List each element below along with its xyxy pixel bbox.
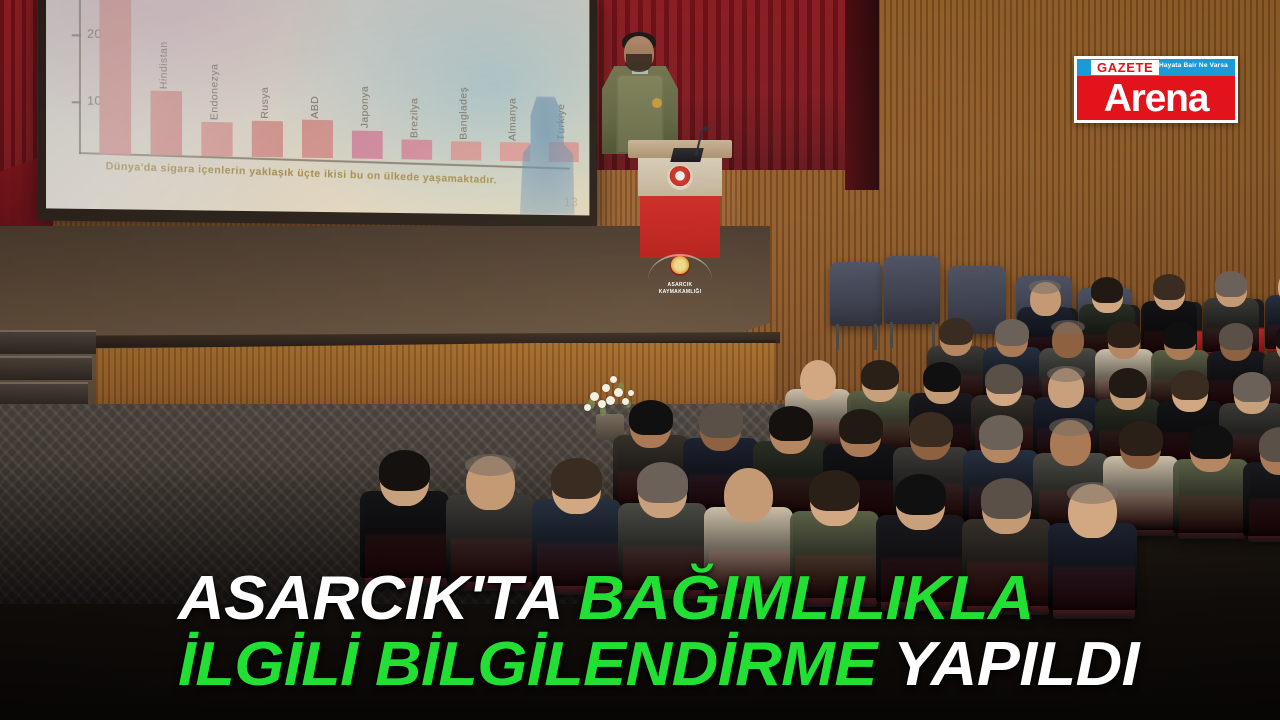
audience-person-hair <box>723 466 774 507</box>
audience-person-hair <box>699 403 743 438</box>
chart-bar <box>352 130 383 159</box>
audience-person-hair <box>923 362 961 392</box>
chart-bar-label: Almanya <box>507 97 519 140</box>
speaker-beard <box>626 54 652 72</box>
chart-bar-label: Bangladeş <box>458 87 470 140</box>
chart-bar-label: ABD <box>309 95 321 118</box>
logo-brand-text: Arena <box>1104 79 1209 118</box>
flower-bloom <box>598 400 606 408</box>
audience-person-hair <box>895 474 946 515</box>
audience-person-hair <box>839 409 883 444</box>
audience-person-hair <box>985 364 1023 394</box>
headline-segment: BAĞIMLILIKLA <box>561 564 1034 633</box>
red-curtain-edge <box>845 0 879 190</box>
laptop-icon <box>670 148 703 162</box>
logo-top-bar: GAZETE Hayata Bair Ne Varsa <box>1077 59 1235 76</box>
headline-segment: YAPILDI <box>877 630 1139 699</box>
news-photo-card: 20 10 HindistanEndonezyaRusyaABDJaponyaB… <box>0 0 1280 720</box>
audience-person-hair <box>1029 280 1061 294</box>
empty-chair <box>884 256 940 324</box>
microphone-head-icon <box>702 126 709 131</box>
audience-person-hair <box>1067 482 1118 504</box>
flower-bloom <box>590 392 599 401</box>
empty-chair <box>830 262 882 326</box>
audience-person-hair <box>769 406 813 441</box>
audience-person-hair <box>809 470 860 511</box>
logo-tagline: Hayata Bair Ne Varsa <box>1159 62 1228 69</box>
podium-label: ASARCIK KAYMAKAMLIĞI <box>640 282 720 296</box>
audience-person-hair <box>1215 271 1247 297</box>
audience-person-hair <box>1233 372 1271 402</box>
audience-person-hair <box>979 415 1023 450</box>
chart-bars: HindistanEndonezyaRusyaABDJaponyaBrezily… <box>91 0 589 164</box>
chart-bar <box>302 120 333 158</box>
chart-bar <box>451 141 481 160</box>
chart-bar-label: Endonezya <box>208 63 220 120</box>
audience-person-hair <box>1047 366 1085 382</box>
flower-bloom <box>602 384 610 392</box>
podium: ASARCIK KAYMAKAMLIĞI <box>632 140 728 258</box>
headline-line-1: ASARCIK'TA BAĞIMLILIKLA <box>178 566 1228 632</box>
chart-bar <box>252 121 283 158</box>
chart-bar <box>99 0 131 155</box>
chair-leg <box>836 324 839 350</box>
flower-bloom <box>614 388 623 397</box>
stage-step <box>0 330 96 354</box>
headline-line-2: İLGİLİ BİLGİLENDİRME YAPILDI <box>178 632 1228 698</box>
projection-screen-frame: 20 10 HindistanEndonezyaRusyaABDJaponyaB… <box>38 0 597 227</box>
podium-gold-emblem-icon <box>670 256 690 276</box>
chair-leg <box>932 322 935 348</box>
audience-person-hair <box>629 400 673 435</box>
audience-person-hair <box>981 478 1032 519</box>
audience-person-hair <box>1109 368 1147 398</box>
flower-bloom <box>622 398 629 405</box>
publisher-logo[interactable]: GAZETE Hayata Bair Ne Varsa Arena <box>1074 56 1238 123</box>
chair-leg <box>890 322 893 348</box>
logo-main-block: Arena <box>1077 76 1235 120</box>
chart-bar <box>201 122 232 157</box>
podium-seal-emblem-icon <box>667 164 693 190</box>
flower-bloom <box>606 396 615 405</box>
chart-ytick-20 <box>72 34 81 36</box>
audience-person-hair <box>909 412 953 447</box>
stage-step <box>0 382 88 406</box>
chart-bar <box>402 139 433 159</box>
chart-bar-label: Hindistan <box>158 41 170 89</box>
chart-bar-label: Rusya <box>259 87 271 119</box>
flower-bloom <box>584 404 591 411</box>
flower-bloom <box>628 390 634 396</box>
audience-person-hair <box>1153 274 1185 300</box>
audience-person-hair <box>1189 424 1233 459</box>
audience-person-hair <box>1219 323 1253 350</box>
projection-screen: 20 10 HindistanEndonezyaRusyaABDJaponyaB… <box>46 0 589 215</box>
headline: ASARCIK'TA BAĞIMLILIKLA İLGİLİ BİLGİLEND… <box>178 566 1188 698</box>
chart-bar-label: Japonya <box>359 86 371 129</box>
audience-person-hair <box>465 454 516 476</box>
audience-person-hair <box>1091 277 1123 303</box>
audience-person-hair <box>379 450 430 491</box>
speaker-person <box>600 36 680 154</box>
chart-ytick-10 <box>72 101 81 103</box>
chart-bar-label: Brezilya <box>408 97 420 138</box>
podium-label-line1: ASARCIK <box>668 282 693 288</box>
audience-person-hair <box>1119 421 1163 456</box>
chair-leg <box>874 324 877 350</box>
logo-gazete-text: GAZETE <box>1091 60 1159 75</box>
chart-bar <box>151 91 183 156</box>
stage-step <box>0 356 92 380</box>
podium-front-plate: ASARCIK KAYMAKAMLIĞI <box>640 196 720 258</box>
audience-person-hair <box>799 358 837 388</box>
audience-person-hair <box>1171 370 1209 400</box>
headline-segment: İLGİLİ BİLGİLENDİRME <box>178 630 877 699</box>
audience-person-hair <box>861 360 899 390</box>
audience-person-hair <box>1107 321 1141 348</box>
audience-person-hair <box>637 462 688 503</box>
audience-person-hair <box>551 458 602 499</box>
audience-person-hair <box>939 318 973 345</box>
headline-segment: ASARCIK'TA <box>178 564 561 633</box>
podium-label-line2: KAYMAKAMLIĞI <box>659 289 702 295</box>
speaker-vest-logo <box>652 98 662 108</box>
audience-person-hair <box>1163 322 1197 349</box>
audience-person-hair <box>995 319 1029 346</box>
presentation-slide: 20 10 HindistanEndonezyaRusyaABDJaponyaB… <box>46 0 589 215</box>
flower-bloom <box>610 376 617 383</box>
chart-y-axis <box>79 0 81 154</box>
